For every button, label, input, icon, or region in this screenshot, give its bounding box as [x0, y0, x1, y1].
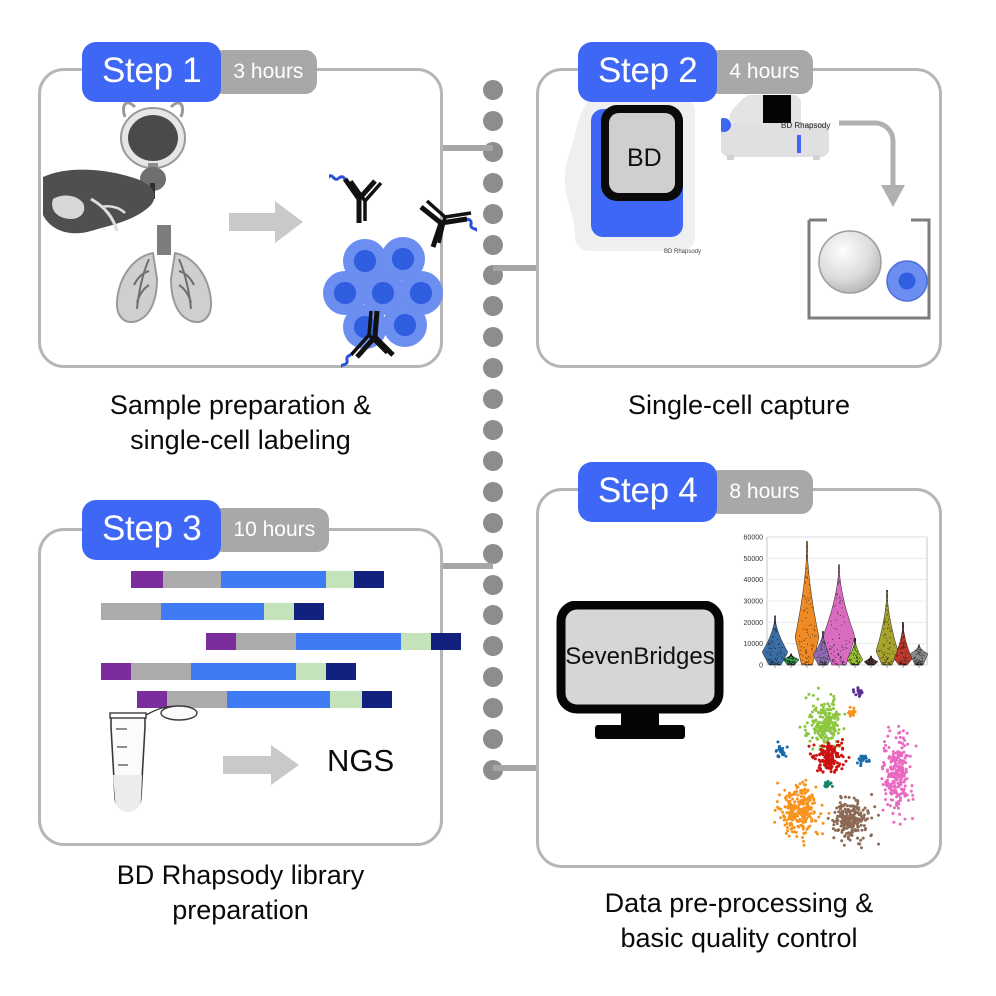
violin-y-tick-label: 10000: [744, 641, 764, 648]
spine-dot: [483, 111, 503, 131]
library-segment: [206, 633, 236, 650]
process-arrow-step3-icon: [223, 743, 299, 787]
panel-step-1[interactable]: [38, 68, 443, 368]
badge-row-step-2: Step 2 4 hours: [578, 42, 813, 102]
cartridge-label: BD: [627, 144, 662, 173]
umap-plot-svg: [729, 681, 935, 861]
panel-step-2[interactable]: BD BD Rhapsody BD Rhapsody: [536, 68, 942, 368]
spine-dot: [483, 575, 503, 595]
violin-y-tick-label: 40000: [744, 577, 764, 584]
spine-dot: [483, 80, 503, 100]
library-segment: [131, 571, 163, 588]
ngs-label: NGS: [327, 743, 394, 779]
bd-cartridge-icon: [561, 91, 706, 256]
panel-step-3[interactable]: NGS: [38, 528, 443, 846]
caption-step-4: Data pre-processing & basic quality cont…: [536, 886, 942, 955]
duration-badge-1[interactable]: 3 hours: [211, 50, 317, 94]
violin-plot: 0100002000030000400005000060000: [727, 531, 933, 681]
violin-y-tick-label: 30000: [744, 599, 764, 606]
violin-y-tick-label: 50000: [744, 556, 764, 563]
library-segment: [101, 663, 131, 680]
library-segment: [362, 691, 392, 708]
library-construct: [101, 603, 324, 620]
library-segment: [131, 663, 191, 680]
duration-badge-2[interactable]: 4 hours: [707, 50, 813, 94]
library-segment: [163, 571, 221, 588]
badge-row-step-3: Step 3 10 hours: [82, 500, 329, 560]
caption-step-4-line1: Data pre-processing &: [536, 886, 942, 921]
spine-link-step1: [437, 145, 493, 151]
violin-y-tick-label: 20000: [744, 620, 764, 627]
library-segment: [101, 603, 161, 620]
library-construct: [131, 571, 384, 588]
monitor-icon: [555, 601, 725, 741]
caption-step-1: Sample preparation & single-cell labelin…: [38, 388, 443, 457]
spine-dot: [483, 358, 503, 378]
library-segment: [296, 663, 326, 680]
instrument-label: BD Rhapsody: [781, 121, 830, 130]
spine-dot: [483, 327, 503, 347]
library-segment: [431, 633, 461, 650]
panel-step-4[interactable]: SevenBridges 010000200003000040000500006…: [536, 488, 942, 868]
library-segment: [354, 571, 384, 588]
caption-step-2: Single-cell capture: [536, 388, 942, 423]
spine-dot: [483, 667, 503, 687]
spine-dot: [483, 636, 503, 656]
library-segment: [326, 663, 356, 680]
step-badge-1[interactable]: Step 1: [82, 42, 221, 102]
library-segment: [221, 571, 326, 588]
step-badge-3[interactable]: Step 3: [82, 500, 221, 560]
umap-cluster-plot: [729, 681, 935, 861]
spine-dot: [483, 451, 503, 471]
caption-step-2-line1: Single-cell capture: [536, 388, 942, 423]
library-segment: [227, 691, 330, 708]
spine-dot: [483, 296, 503, 316]
umap-cluster: [773, 779, 830, 847]
spine-dot: [483, 389, 503, 409]
process-arrow-step1-icon: [229, 199, 303, 245]
library-segment: [330, 691, 362, 708]
eppendorf-tube-icon: [89, 703, 199, 831]
umap-cluster: [880, 725, 917, 826]
umap-cluster: [808, 738, 851, 774]
duration-badge-4[interactable]: 8 hours: [707, 470, 813, 514]
antibody-icon: [341, 307, 403, 369]
bead-icon: [817, 229, 883, 295]
antibody-icon: [413, 199, 477, 257]
library-segment: [236, 633, 296, 650]
spine-dot: [483, 513, 503, 533]
antibody-icon: [329, 167, 389, 227]
spine-link-step3: [437, 563, 493, 569]
violin-y-tick-label: 60000: [744, 535, 764, 542]
library-construct: [101, 663, 356, 680]
bd-rhapsody-instrument-icon: [721, 93, 836, 173]
umap-cluster: [852, 686, 864, 698]
library-segment: [296, 633, 401, 650]
library-construct: [206, 633, 461, 650]
spine-dot: [483, 605, 503, 625]
spine-dot: [483, 729, 503, 749]
flow-curved-arrow-icon: [835, 119, 915, 219]
badge-row-step-4: Step 4 8 hours: [578, 462, 813, 522]
caption-step-1-line2: single-cell labeling: [38, 423, 443, 458]
timeline-spine: [483, 80, 509, 780]
violin-plot-svg: 0100002000030000400005000060000: [727, 531, 933, 681]
organ-lungs-icon: [109, 219, 219, 334]
step-badge-2[interactable]: Step 2: [578, 42, 717, 102]
library-segment: [326, 571, 354, 588]
monitor-label: SevenBridges: [555, 643, 725, 671]
caption-step-4-line2: basic quality control: [536, 921, 942, 956]
cartridge-footer-label: BD Rhapsody: [664, 249, 701, 255]
library-segment: [161, 603, 264, 620]
violin-y-tick-label: 0: [759, 663, 763, 670]
spine-dot: [483, 544, 503, 564]
badge-row-step-1: Step 1 3 hours: [82, 42, 317, 102]
spine-dot: [483, 204, 503, 224]
library-constructs-group: [103, 561, 423, 721]
caption-step-3-line2: preparation: [38, 893, 443, 928]
spine-dot: [483, 482, 503, 502]
umap-cluster: [847, 706, 857, 718]
umap-cluster: [856, 755, 871, 768]
caption-step-3-line1: BD Rhapsody library: [38, 858, 443, 893]
spine-dot: [483, 698, 503, 718]
library-segment: [264, 603, 294, 620]
caption-step-3: BD Rhapsody library preparation: [38, 858, 443, 927]
captured-cell-icon: [885, 259, 929, 303]
library-segment: [401, 633, 431, 650]
spine-dot: [483, 420, 503, 440]
umap-cluster: [827, 793, 880, 849]
library-segment: [294, 603, 324, 620]
umap-cluster: [823, 780, 834, 789]
spine-dot: [483, 173, 503, 193]
figure-canvas: Step 1 3 hours Sample preparation & sing…: [0, 0, 996, 996]
library-segment: [191, 663, 296, 680]
duration-badge-3[interactable]: 10 hours: [211, 508, 329, 552]
spine-dot: [483, 235, 503, 255]
umap-cluster: [775, 740, 789, 758]
step-badge-4[interactable]: Step 4: [578, 462, 717, 522]
caption-step-1-line1: Sample preparation &: [38, 388, 443, 423]
